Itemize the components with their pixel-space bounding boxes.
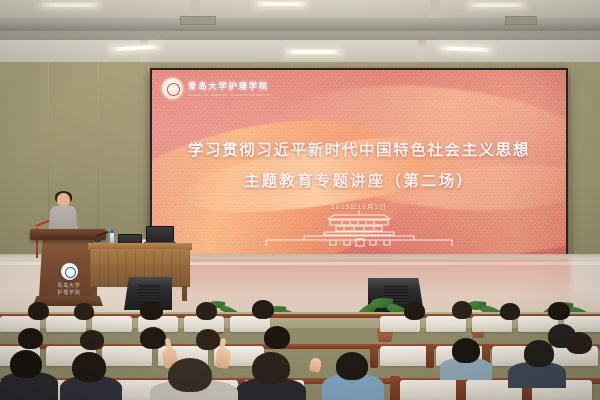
university-crest-icon	[61, 263, 78, 280]
attendee-head	[264, 326, 290, 349]
ceiling-duct-lower	[0, 31, 600, 40]
podium-front-text: 青岛大学护理学院	[49, 283, 89, 297]
desk-microphone-base	[94, 239, 101, 242]
attendee-head	[336, 352, 368, 380]
attendee-head	[196, 329, 220, 350]
ceiling-panel	[200, 0, 430, 18]
attendee-head	[72, 352, 106, 382]
ceiling-light	[468, 3, 526, 7]
led-screen: 青岛大学护理学院 SCHOOL OF NURSING, QINGDAO UNIV…	[152, 70, 566, 256]
ceiling-light	[255, 2, 307, 6]
table-leg	[92, 286, 97, 301]
seat	[380, 346, 430, 366]
attendee-head	[524, 340, 554, 367]
ceiling-vent	[180, 16, 216, 25]
attendee-head	[168, 358, 212, 392]
attendee-head	[452, 338, 480, 363]
attendee-head	[74, 303, 94, 320]
lecture-hall-photo: 青岛大学护理学院 SCHOOL OF NURSING, QINGDAO UNIV…	[0, 0, 600, 400]
seat-armrest	[390, 376, 400, 400]
seat	[92, 316, 132, 332]
attendee-hand	[309, 357, 323, 373]
attendee-head	[452, 301, 472, 319]
slide-logo-name-cn: 青岛大学护理学院	[188, 80, 272, 92]
ceiling	[0, 0, 600, 68]
tiananmen-gate-icon	[264, 209, 454, 247]
attendee-head	[80, 330, 104, 350]
ceiling-vent	[505, 16, 537, 25]
presenter-head	[57, 193, 70, 207]
ceiling-light	[285, 50, 341, 54]
seat	[102, 346, 152, 366]
slide-logo-text: 青岛大学护理学院 SCHOOL OF NURSING, QINGDAO UNIV…	[188, 80, 272, 97]
slide-logo-name-en: SCHOOL OF NURSING, QINGDAO UNIVERSITY	[188, 94, 272, 97]
ceiling-light	[40, 3, 100, 7]
attendee-head	[28, 302, 49, 320]
attendee-head	[252, 300, 274, 319]
attendee-head	[18, 328, 43, 349]
attendee-head	[500, 303, 520, 320]
slide-title-line-2: 主题教育专题讲座（第二场）	[152, 169, 566, 191]
table-leg	[182, 286, 187, 301]
attendee-head	[566, 332, 592, 354]
slide-title-line-1: 学习贯彻习近平新时代中国特色社会主义思想	[152, 138, 566, 160]
attendee-head	[196, 302, 217, 320]
attendee-head	[140, 301, 163, 320]
attendee-head	[140, 327, 166, 349]
attendee-head	[10, 350, 42, 378]
attendee-head	[548, 302, 570, 320]
audience-area	[0, 300, 600, 400]
attendee-head	[252, 352, 290, 384]
attendee-head	[404, 302, 425, 320]
institution-seal-icon	[162, 78, 183, 99]
seat-armrest	[426, 344, 434, 368]
seat	[400, 380, 460, 400]
slide-logo: 青岛大学护理学院 SCHOOL OF NURSING, QINGDAO UNIV…	[162, 78, 272, 99]
seat-armrest	[370, 344, 378, 368]
